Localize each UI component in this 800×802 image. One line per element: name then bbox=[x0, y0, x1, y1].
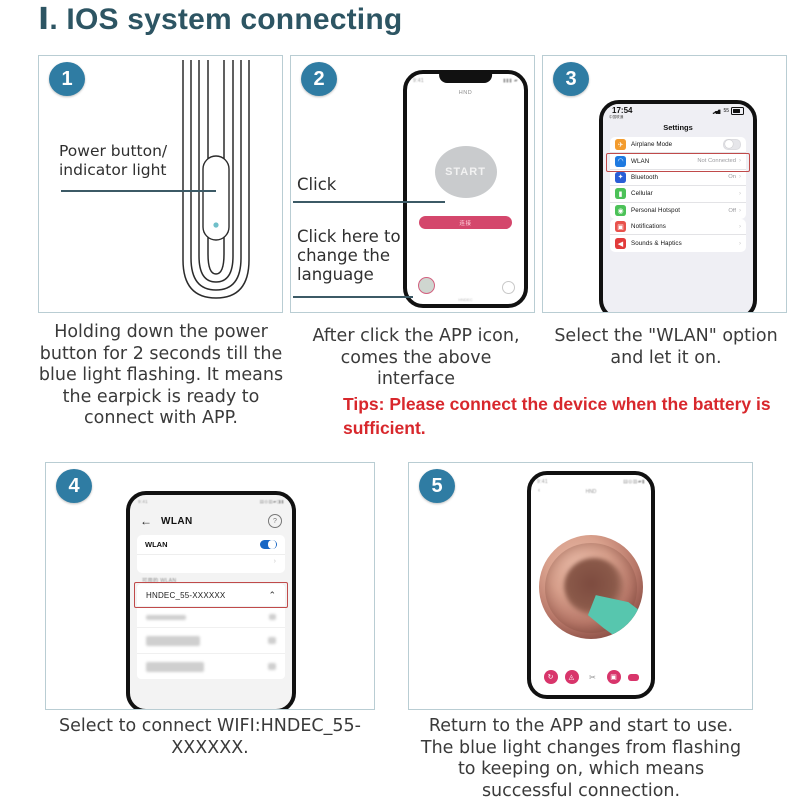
screen-title: WLAN bbox=[161, 516, 268, 527]
row-label: Notifications bbox=[631, 223, 739, 230]
record-button[interactable] bbox=[628, 674, 639, 681]
status-bar: 9:41 ▮▮▮ ▰ bbox=[407, 74, 524, 87]
row-value: On bbox=[728, 174, 736, 180]
blurred-name bbox=[146, 662, 204, 672]
step-panel-4: 4 9:41 ▤◎▥▰◨▮ ← WLAN ? WLAN 可用的 WLAN bbox=[45, 462, 375, 710]
chevron-right-icon: › bbox=[739, 191, 741, 197]
settings-row-cellular[interactable]: ▮ Cellular › bbox=[610, 186, 746, 202]
wlan-toggle-row[interactable]: WLAN bbox=[137, 535, 285, 554]
settings-group-notifications: ▣ Notifications › ◀ Sounds & Haptics › bbox=[610, 219, 746, 252]
status-time: 9:41 bbox=[138, 499, 148, 504]
step-caption-4: Select to connect WIFI:HNDEC_55-XXXXXX. bbox=[50, 716, 370, 759]
click-annotation: Click bbox=[297, 176, 336, 195]
status-right-icons: 55 bbox=[712, 107, 744, 115]
phone-mockup-camera-view: 9:41 ▤◎▥▰▮ ‹ HND ↻ ◬ ✂ ▣ bbox=[527, 471, 655, 699]
language-annotation: Click here to change the language bbox=[297, 228, 415, 285]
settings-row-airplane-mode[interactable]: ✈ Airplane Mode bbox=[610, 137, 746, 153]
chevron-right-icon: › bbox=[739, 158, 741, 164]
wlan-toggle[interactable] bbox=[260, 540, 277, 550]
brightness-button[interactable]: ◬ bbox=[565, 670, 579, 684]
network-row-blurred[interactable] bbox=[137, 627, 285, 653]
network-row-hndec[interactable]: HNDEC_55-XXXXXX ⌃ bbox=[137, 584, 285, 606]
power-button-annotation: Power button/ indicator light bbox=[59, 142, 194, 179]
status-bar: 9:41 ▤◎▥▰◨▮ bbox=[130, 495, 292, 508]
blurred-icon bbox=[268, 637, 276, 644]
row-label: Bluetooth bbox=[631, 174, 728, 181]
blurred-name bbox=[146, 636, 200, 646]
help-icon[interactable]: ? bbox=[268, 514, 282, 528]
scissors-button[interactable]: ✂ bbox=[586, 670, 600, 684]
step-badge-2: 2 bbox=[301, 62, 337, 96]
phone-mockup-wlan-list: 9:41 ▤◎▥▰◨▮ ← WLAN ? WLAN 可用的 WLAN HNDEC… bbox=[126, 491, 296, 710]
settings-row-bluetooth[interactable]: ✦ Bluetooth On › bbox=[610, 170, 746, 186]
step-panel-1: 1 Power button/ indicator light bbox=[38, 55, 283, 313]
settings-row-notifications[interactable]: ▣ Notifications › bbox=[610, 219, 746, 235]
connect-button[interactable]: 连接 bbox=[419, 216, 512, 229]
status-bar: 17:54 55 bbox=[603, 104, 753, 120]
row-label: Airplane Mode bbox=[631, 141, 723, 148]
history-clock-button[interactable] bbox=[502, 281, 515, 294]
blurred-icon bbox=[269, 614, 276, 620]
tips-note: Tips: Please connect the device when the… bbox=[343, 393, 783, 440]
bluetooth-icon: ✦ bbox=[615, 172, 626, 183]
chevron-right-icon: › bbox=[739, 208, 741, 214]
row-label: Sounds & Haptics bbox=[631, 240, 739, 247]
step-panel-2: 2 9:41 ▮▮▮ ▰ HND START 连接 HNDEC Click Cl… bbox=[290, 55, 535, 313]
network-list: HNDEC_55-XXXXXX ⌃ bbox=[137, 584, 285, 679]
ear-canal-camera-view bbox=[539, 535, 643, 639]
signal-bars-icon bbox=[712, 108, 721, 114]
carrier-label: 中国联通 bbox=[609, 115, 623, 120]
battery-level: 55 bbox=[723, 108, 729, 114]
settings-row-personal-hotspot[interactable]: ◉ Personal Hotspot Off › bbox=[610, 203, 746, 219]
camera-controls: ↻ ◬ ✂ ▣ bbox=[531, 670, 651, 684]
network-row-blurred[interactable] bbox=[137, 653, 285, 679]
cellular-icon: ▮ bbox=[615, 188, 626, 199]
available-networks-header: 可用的 WLAN bbox=[142, 577, 176, 584]
annotation-leader-line bbox=[61, 190, 216, 192]
network-row-blurred[interactable] bbox=[137, 606, 285, 627]
battery-icon bbox=[731, 107, 744, 115]
phone-mockup-app-home: 9:41 ▮▮▮ ▰ HND START 连接 HNDEC bbox=[403, 70, 528, 308]
status-icons: ▮▮▮ ▰ bbox=[503, 78, 518, 84]
network-name: HNDEC_55-XXXXXX bbox=[146, 591, 225, 600]
status-bar: 9:41 ▤◎▥▰▮ bbox=[531, 475, 651, 488]
sounds-icon: ◀ bbox=[615, 238, 626, 249]
rotate-button[interactable]: ↻ bbox=[544, 670, 558, 684]
status-icons: ▤◎▥▰▮ bbox=[623, 479, 645, 485]
step-panel-3: 3 17:54 55 中国联通 Settings ✈ Airplane Mode bbox=[542, 55, 787, 313]
step-badge-4: 4 bbox=[56, 469, 92, 503]
step-panel-5: 5 9:41 ▤◎▥▰▮ ‹ HND ↻ ◬ ✂ ▣ bbox=[408, 462, 753, 710]
step-caption-2: After click the APP icon, comes the abov… bbox=[300, 326, 532, 391]
wlan-icon: ◠ bbox=[615, 156, 626, 167]
chevron-right-icon: › bbox=[739, 241, 741, 247]
step-caption-3: Select the "WLAN" option and let it on. bbox=[550, 326, 782, 369]
status-icons: ▤◎▥▰◨▮ bbox=[260, 499, 284, 505]
step-badge-1: 1 bbox=[49, 62, 85, 96]
status-time: 17:54 bbox=[612, 107, 632, 115]
settings-row-sounds-haptics[interactable]: ◀ Sounds & Haptics › bbox=[610, 235, 746, 251]
instruction-sheet: Ⅰ. IOS system connecting 1 Power button/… bbox=[0, 0, 800, 800]
settings-row-wlan[interactable]: ◠ WLAN Not Connected › bbox=[610, 153, 746, 169]
blurred-icon bbox=[268, 663, 276, 670]
wlan-more-row[interactable] bbox=[137, 554, 285, 573]
language-leader-line bbox=[293, 296, 413, 298]
status-time: 9:41 bbox=[537, 479, 548, 485]
start-button[interactable]: START bbox=[435, 146, 497, 198]
wlan-header: ← WLAN ? bbox=[130, 509, 292, 533]
settings-group-connectivity: ✈ Airplane Mode ◠ WLAN Not Connected › ✦… bbox=[610, 137, 746, 219]
app-title: HND bbox=[407, 90, 524, 96]
back-arrow-icon[interactable]: ← bbox=[140, 515, 152, 527]
wifi-icon: ⌃ bbox=[268, 590, 276, 601]
airplane-toggle[interactable] bbox=[723, 139, 741, 150]
phone-mockup-ios-settings: 17:54 55 中国联通 Settings ✈ Airplane Mode ◠… bbox=[599, 100, 757, 313]
app-title: HND bbox=[531, 489, 651, 495]
chevron-right-icon: › bbox=[739, 224, 741, 230]
row-label: Personal Hotspot bbox=[631, 207, 728, 214]
row-label: WLAN bbox=[631, 158, 697, 165]
capture-button[interactable]: ▣ bbox=[607, 670, 621, 684]
step-caption-5: Return to the APP and start to use. The … bbox=[410, 716, 752, 802]
step-caption-1: Holding down the power button for 2 seco… bbox=[30, 322, 292, 430]
wlan-toggle-card: WLAN bbox=[137, 535, 285, 573]
status-time: 9:41 bbox=[413, 78, 424, 84]
earpick-device-illustration bbox=[169, 60, 279, 313]
settings-screen-title: Settings bbox=[603, 123, 753, 132]
blurred-name bbox=[146, 615, 186, 620]
click-leader-line bbox=[293, 201, 445, 203]
step-badge-5: 5 bbox=[419, 469, 455, 503]
hotspot-icon: ◉ bbox=[615, 205, 626, 216]
airplane-icon: ✈ bbox=[615, 139, 626, 150]
app-footer-note: HNDEC bbox=[407, 297, 524, 302]
row-label: Cellular bbox=[631, 190, 739, 197]
language-globe-button[interactable] bbox=[418, 277, 435, 294]
notifications-icon: ▣ bbox=[615, 221, 626, 232]
wlan-toggle-label: WLAN bbox=[145, 540, 168, 549]
step-badge-3: 3 bbox=[553, 62, 589, 96]
chevron-right-icon: › bbox=[739, 174, 741, 180]
row-value: Not Connected bbox=[697, 158, 736, 164]
row-value: Off bbox=[728, 208, 736, 214]
page-title: Ⅰ. IOS system connecting bbox=[38, 2, 402, 37]
